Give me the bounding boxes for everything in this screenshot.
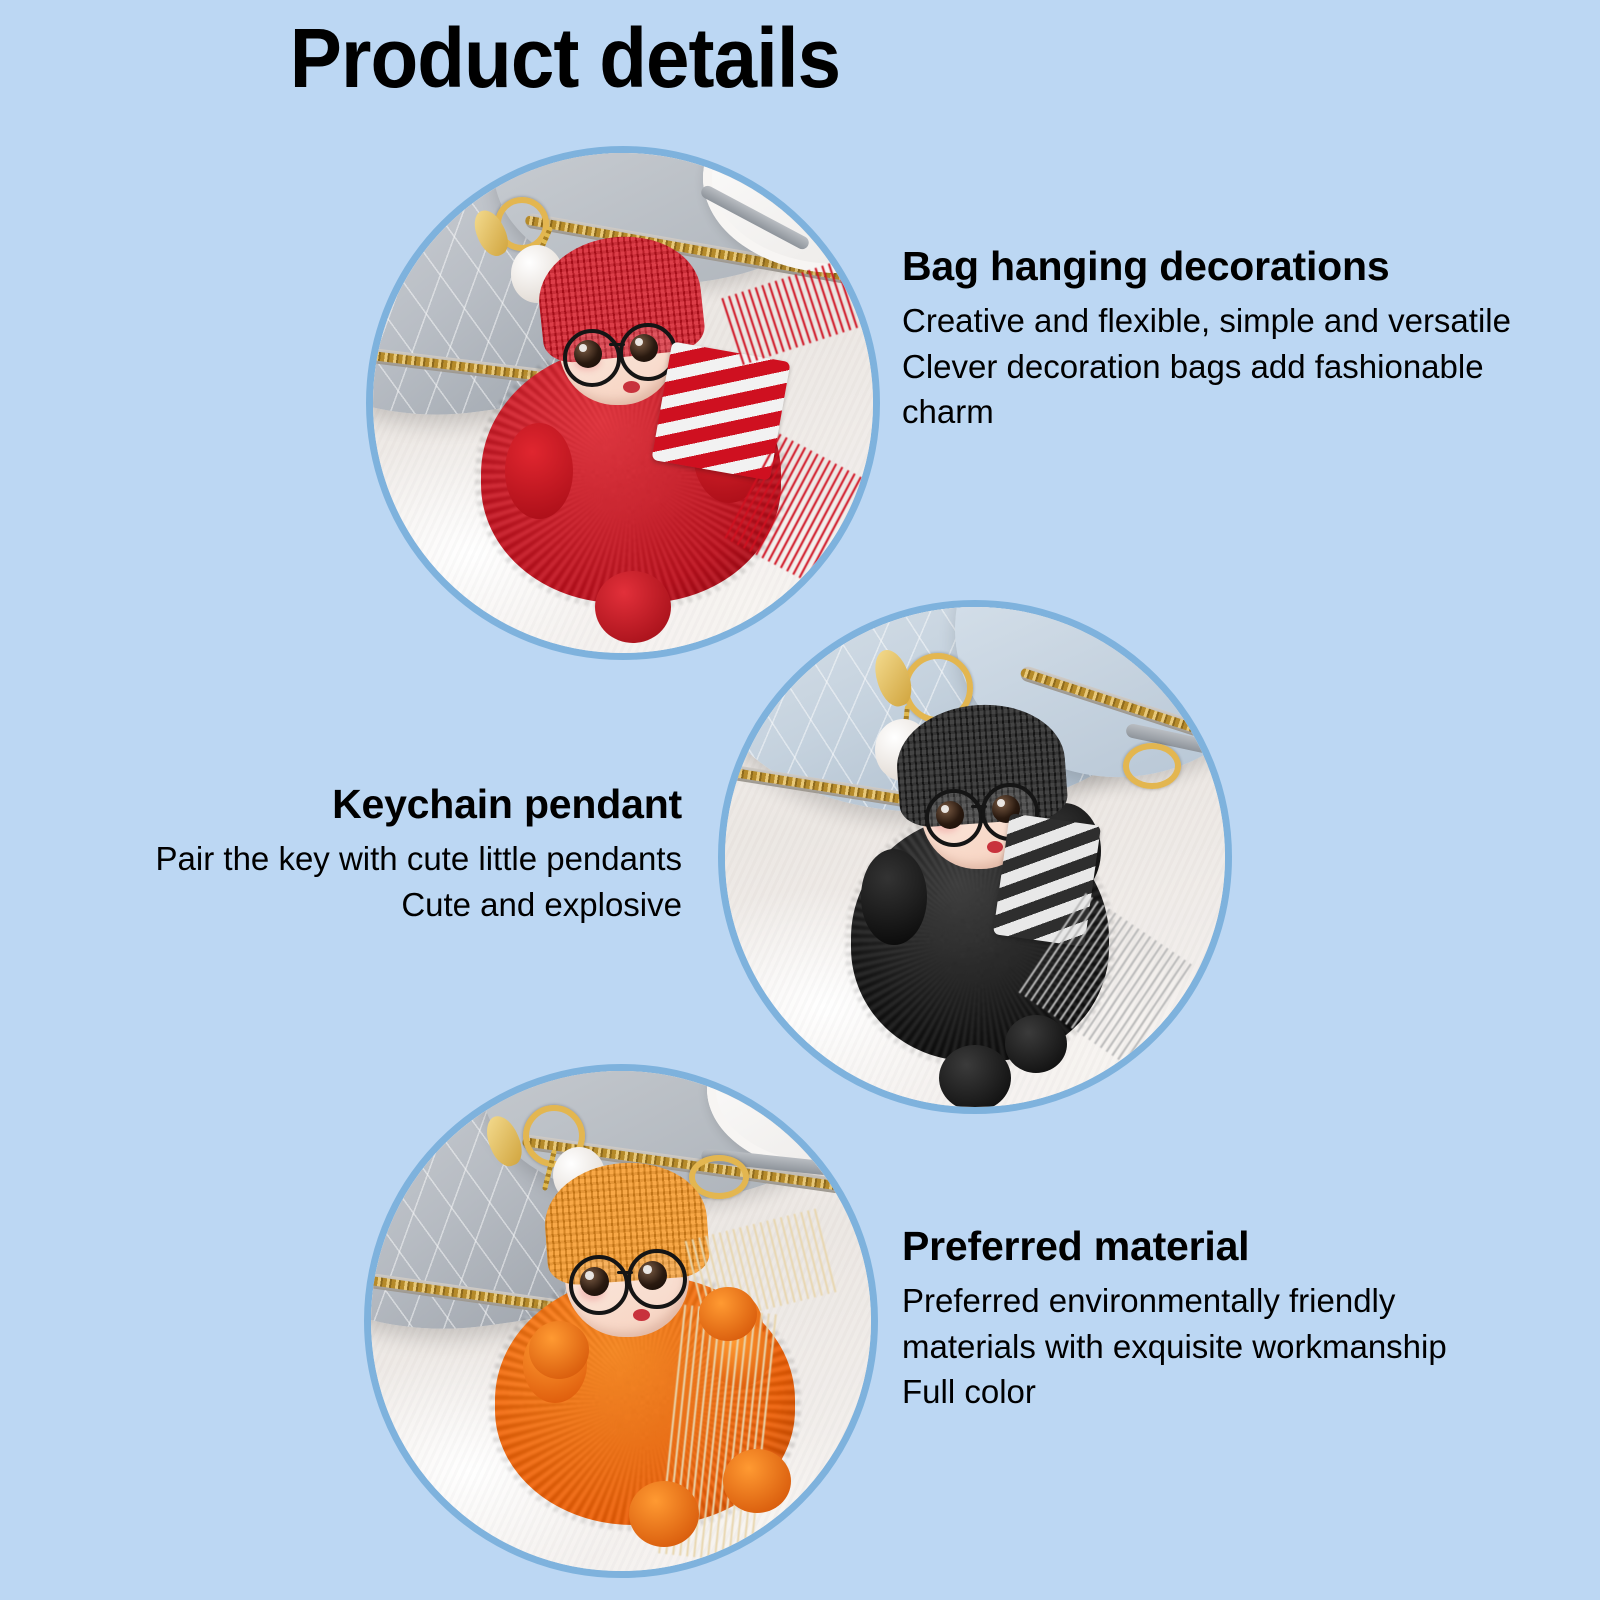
doll-arm-left xyxy=(505,423,573,519)
section-body-line: Pair the key with cute little pendants xyxy=(90,836,682,882)
doll-eye-right xyxy=(630,334,658,362)
red-pompom-doll-keychain-photo xyxy=(366,146,880,660)
section-preferred-material: Preferred material Preferred environment… xyxy=(902,1222,1542,1415)
doll-eye-left xyxy=(580,1267,609,1296)
page-title: Product details xyxy=(40,14,1091,102)
product-details-page: Product details xyxy=(0,0,1600,1600)
keyring-secondary-icon xyxy=(1123,743,1181,789)
black-pompom-doll-keychain-photo xyxy=(718,600,1232,1114)
section-heading: Bag hanging decorations xyxy=(902,242,1562,290)
doll-foot-pompom-left xyxy=(939,1045,1011,1111)
doll-eye-right xyxy=(638,1261,667,1290)
doll-foot-pompom-right xyxy=(723,1449,791,1513)
section-heading: Keychain pendant xyxy=(90,780,682,828)
photo-scene xyxy=(725,607,1225,1107)
doll-foot-pompom-right xyxy=(1005,1015,1067,1073)
section-keychain-pendant: Keychain pendant Pair the key with cute … xyxy=(90,780,682,927)
doll-arm-left xyxy=(861,849,927,945)
section-heading: Preferred material xyxy=(902,1222,1542,1270)
section-body-line: materials with exquisite workmanship xyxy=(902,1324,1542,1370)
photo-scene xyxy=(371,1071,871,1571)
section-body-line: Preferred environmentally friendly xyxy=(902,1278,1542,1324)
doll-foot-pompom xyxy=(595,571,671,643)
glasses-bridge xyxy=(609,343,625,346)
doll-mouth xyxy=(987,841,1003,853)
section-body-line: Full color xyxy=(902,1369,1542,1415)
doll-pompom-left xyxy=(529,1321,589,1379)
doll-pompom-right xyxy=(699,1287,757,1341)
section-body-line: Creative and flexible, simple and versat… xyxy=(902,298,1562,344)
section-body-line: Clever decoration bags add fashionable xyxy=(902,344,1562,390)
glasses-bridge xyxy=(971,805,987,808)
doll-mouth xyxy=(623,381,640,393)
doll-eye-left xyxy=(936,801,964,829)
glasses-bridge xyxy=(617,1271,633,1274)
orange-pompom-doll-keychain-photo xyxy=(364,1064,878,1578)
section-body-line: charm xyxy=(902,389,1562,435)
doll-foot-pompom-left xyxy=(629,1481,699,1547)
section-bag-hanging-decorations: Bag hanging decorations Creative and fle… xyxy=(902,242,1562,435)
section-body-line: Cute and explosive xyxy=(90,882,682,928)
photo-scene xyxy=(373,153,873,653)
doll-mouth xyxy=(633,1309,650,1321)
doll-eye-left xyxy=(574,340,602,368)
